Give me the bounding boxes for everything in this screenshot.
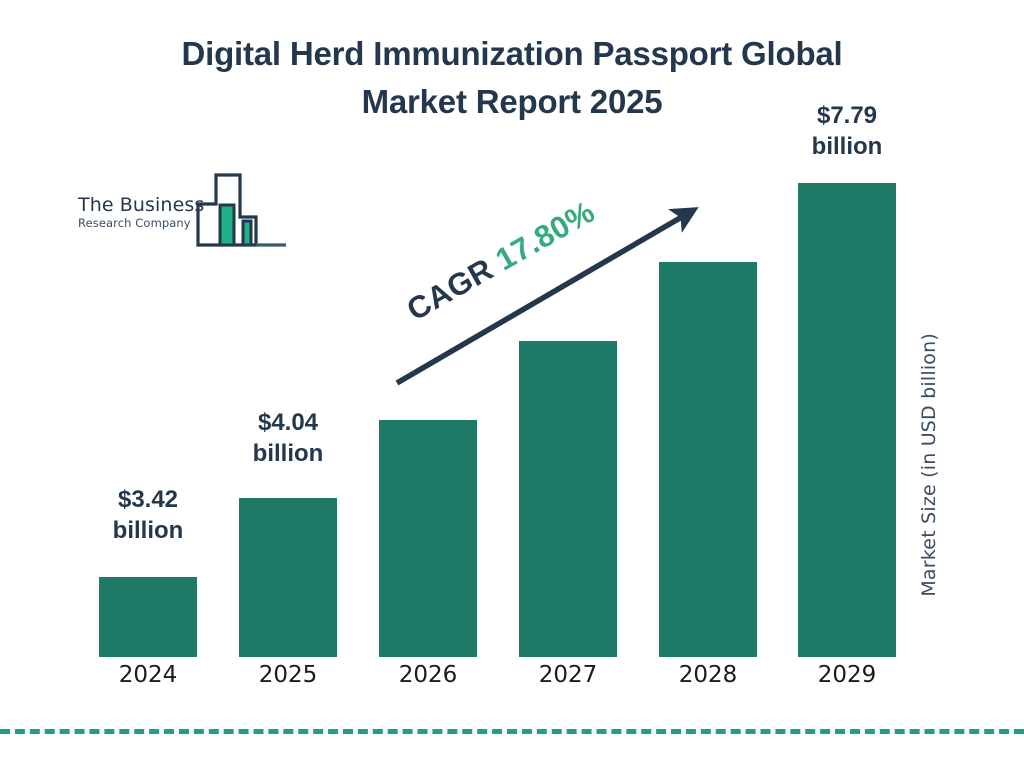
bar-2025 <box>239 498 337 657</box>
footer-divider <box>0 729 1024 734</box>
x-tick-2024: 2024 <box>99 662 197 688</box>
bar-2029 <box>798 183 896 657</box>
x-tick-2026: 2026 <box>379 662 477 688</box>
cagr-label: CAGR <box>401 251 499 327</box>
x-tick-2029: 2029 <box>798 662 896 688</box>
cagr-annotation-text: CAGR 17.80% <box>401 194 601 328</box>
bar-value-label-2029: $7.79 billion <box>777 101 917 162</box>
bar-2024 <box>99 577 197 657</box>
bar-2026 <box>379 420 477 657</box>
cagr-value: 17.80% <box>490 194 601 277</box>
x-tick-2028: 2028 <box>659 662 757 688</box>
bar-value-label-2025: $4.04 billion <box>218 408 358 469</box>
cagr-annotation: CAGR 17.80% <box>393 205 713 395</box>
bar-chart: $3.42 billion $4.04 billion $7.79 billio… <box>0 0 1024 700</box>
bar-value-label-2024: $3.42 billion <box>78 485 218 546</box>
x-tick-2025: 2025 <box>239 662 337 688</box>
x-tick-2027: 2027 <box>519 662 617 688</box>
y-axis-label: Market Size (in USD billion) <box>918 333 940 597</box>
